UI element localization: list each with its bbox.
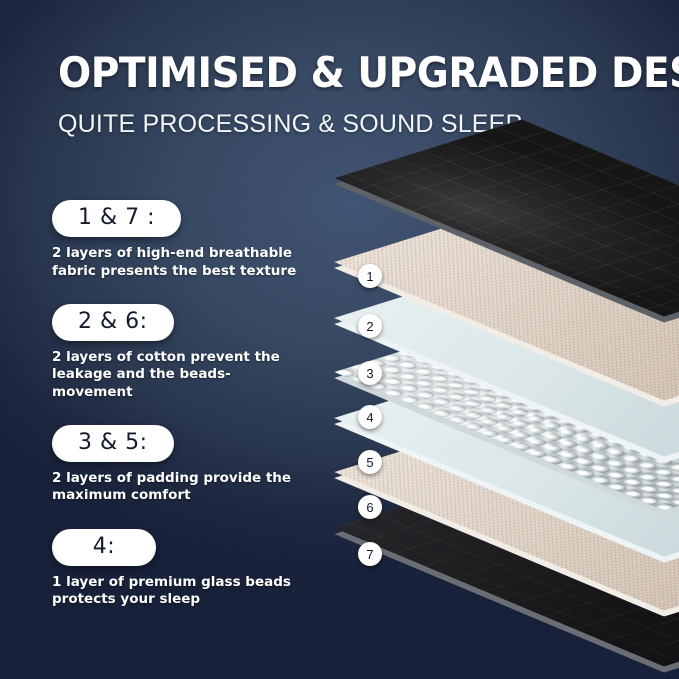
feature-badge-label-2: 2 & 6: <box>78 309 148 334</box>
stack-layer-1 <box>300 178 679 328</box>
layer-number-badge-5: 5 <box>358 450 382 474</box>
page-title: OPTIMISED & UPGRADED DESIGN <box>58 52 616 94</box>
feature-list: 1 & 7 : 2 layers of high-end breathable … <box>52 200 317 609</box>
feature-description-1: 2 layers of high-end breathable fabric p… <box>52 245 302 280</box>
feature-badge-label-1: 1 & 7 : <box>78 205 155 230</box>
feature-badge-1: 1 & 7 : <box>52 200 181 237</box>
feature-item-1: 1 & 7 : 2 layers of high-end breathable … <box>52 200 317 280</box>
layer-number-badge-1: 1 <box>358 264 382 288</box>
feature-badge-label-3: 3 & 5: <box>78 430 148 455</box>
product-infographic: OPTIMISED & UPGRADED DESIGN QUITE PROCES… <box>0 0 679 679</box>
feature-item-4: 4: 1 layer of premium glass beads protec… <box>52 529 317 609</box>
header: OPTIMISED & UPGRADED DESIGN QUITE PROCES… <box>58 52 658 139</box>
feature-badge-2: 2 & 6: <box>52 304 174 341</box>
feature-description-2: 2 layers of cotton prevent the leakage a… <box>52 349 302 401</box>
feature-description-4: 1 layer of premium glass beads protects … <box>52 574 302 609</box>
feature-item-3: 3 & 5: 2 layers of padding provide the m… <box>52 425 317 505</box>
feature-description-3: 2 layers of padding provide the maximum … <box>52 470 302 505</box>
page-subtitle: QUITE PROCESSING & SOUND SLEEP <box>58 110 658 139</box>
feature-badge-4: 4: <box>52 529 156 566</box>
feature-badge-label-4: 4: <box>78 534 130 559</box>
layer-number-badge-2: 2 <box>358 314 382 338</box>
layer-number-badge-7: 7 <box>358 542 382 566</box>
feature-badge-3: 3 & 5: <box>52 425 174 462</box>
feature-item-2: 2 & 6: 2 layers of cotton prevent the le… <box>52 304 317 401</box>
layer-1-surface <box>334 119 679 316</box>
layer-number-badge-3: 3 <box>358 361 382 385</box>
layer-number-badge-6: 6 <box>358 495 382 519</box>
layer-stack-diagram: 1 2 3 4 5 6 7 <box>300 150 679 670</box>
layer-number-badge-4: 4 <box>358 405 382 429</box>
